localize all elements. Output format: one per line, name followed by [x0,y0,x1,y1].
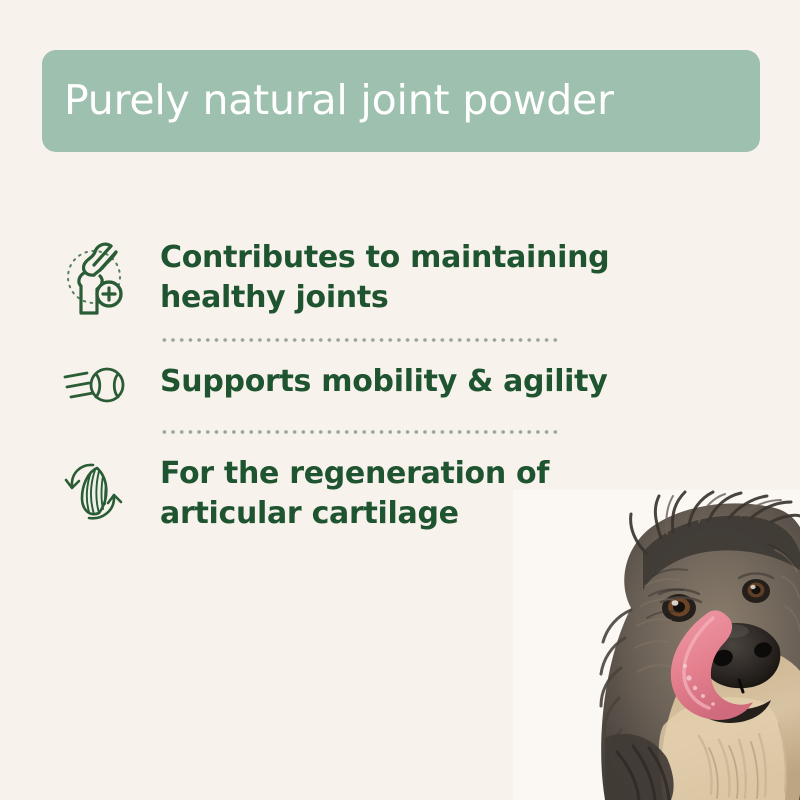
benefits-list: Contributes to maintaining healthy joint… [0,236,800,533]
promo-page: Purely natural joint powder [0,0,800,800]
page-title: Purely natural joint powder [64,79,614,122]
benefit-divider [160,338,560,342]
header-banner: Purely natural joint powder [42,50,760,152]
knee-joint-plus-icon [62,236,128,322]
benefit-divider [160,430,560,434]
cartilage-regeneration-icon [62,452,128,530]
benefit-label: Contributes to maintaining healthy joint… [160,236,630,317]
benefit-label: Supports mobility & agility [160,360,607,402]
dog-photo [513,490,800,800]
benefit-item: Supports mobility & agility [0,360,800,416]
benefit-item: Contributes to maintaining healthy joint… [0,236,800,322]
tennis-ball-motion-icon [62,360,128,416]
